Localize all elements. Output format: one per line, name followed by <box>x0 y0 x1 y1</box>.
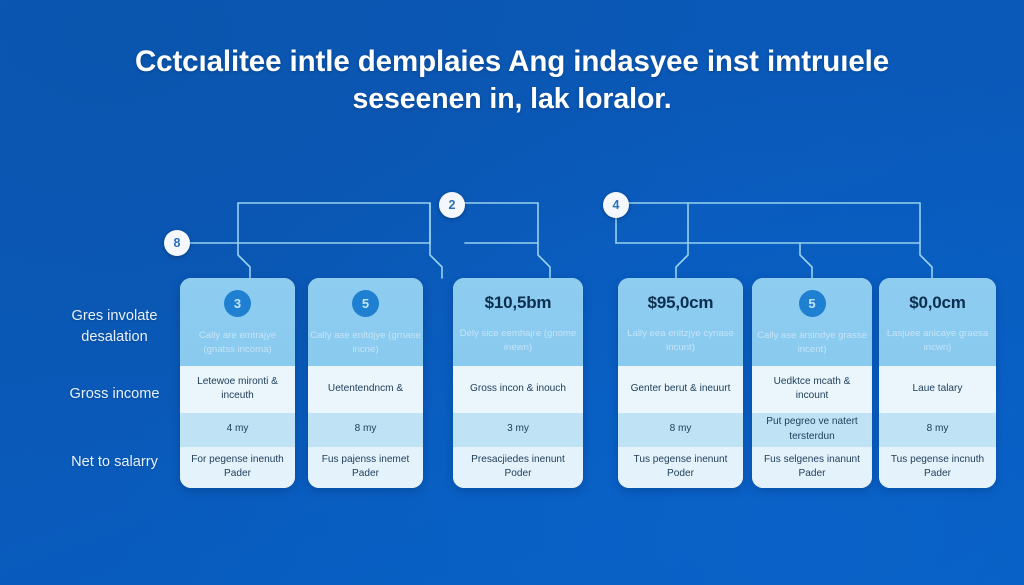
card-band-period: 4 my <box>180 413 295 447</box>
info-card-4[interactable]: $95,0cm Lally eea enltzjye cynase incunt… <box>618 278 743 488</box>
row-label-net-salary: Net to salarry <box>52 452 177 473</box>
card-header-subtitle: Cally are emtrajye (gnatss incoma) <box>182 329 292 356</box>
card-badge: 5 <box>352 290 379 317</box>
title-line-1: Cctcıalitee intle demplaies Ang indasyee… <box>62 42 962 81</box>
infographic-canvas: Cctcıalitee intle demplaies Ang indasyee… <box>0 0 1024 585</box>
card-band-net: Fus selgenes inanunt Pader <box>752 447 872 489</box>
card-amount: $95,0cm <box>648 293 714 313</box>
card-band-net: Tus pegense inenunt Poder <box>618 447 743 489</box>
card-band-period: 8 my <box>618 413 743 447</box>
info-card-3[interactable]: $10,5bm Dely sice eemhajre (gnome inewn)… <box>453 278 583 488</box>
card-header: 3 Cally are emtrajye (gnatss incoma) <box>180 278 295 366</box>
connector-drop-card-2 <box>430 203 442 278</box>
info-card-6[interactable]: $0,0cm Lasjuee anicaye graesa incwn) Lau… <box>879 278 996 488</box>
info-card-1[interactable]: 3 Cally are emtrajye (gnatss incoma) Let… <box>180 278 295 488</box>
card-band-period: Put pegreo ve natert tersterdun <box>752 413 872 447</box>
card-band-gross: Letewoe mironti & inceuth <box>180 366 295 413</box>
card-amount: $0,0cm <box>909 293 965 313</box>
connector-node-4[interactable]: 4 <box>603 192 629 218</box>
row-label-gross-involate: Gres involate desalation <box>52 306 177 347</box>
card-band-net: Fus pajenss inemet Pader <box>308 447 423 489</box>
info-card-5[interactable]: 5 Cally ase arsindye grasse incent) Uedk… <box>752 278 872 488</box>
card-band-gross: Laue talary <box>879 366 996 413</box>
row-label-gross-income: Gross income <box>52 384 177 405</box>
card-header-subtitle: Cally ase arsindye grasse incent) <box>754 329 869 356</box>
card-header: $95,0cm Lally eea enltzjye cynase incunt… <box>618 278 743 366</box>
connector-drop-card-6 <box>920 243 932 278</box>
page-title: Cctcıalitee intle demplaies Ang indasyee… <box>62 42 962 119</box>
card-header: 5 Cally ase enltdjye (grnase incne) <box>308 278 423 366</box>
connector-drop-card-4 <box>676 243 688 278</box>
card-band-net: For pegense inenuth Pader <box>180 447 295 489</box>
card-header: $10,5bm Dely sice eemhajre (gnome inewn) <box>453 278 583 366</box>
card-header: 5 Cally ase arsindye grasse incent) <box>752 278 872 366</box>
card-amount: $10,5bm <box>485 293 552 313</box>
connector-drop-card-5 <box>800 243 812 278</box>
info-card-2[interactable]: 5 Cally ase enltdjye (grnase incne) Uete… <box>308 278 423 488</box>
card-badge: 5 <box>799 290 826 317</box>
card-band-gross: Genter berut & ineuurt <box>618 366 743 413</box>
connector-node-8[interactable]: 8 <box>164 230 190 256</box>
card-band-net: Presacjiedes inenunt Poder <box>453 447 583 489</box>
card-band-gross: Uetentendncm & <box>308 366 423 413</box>
connector-drop-card-3 <box>538 243 550 278</box>
card-band-net: Tus pegense incnuth Pader <box>879 447 996 489</box>
connector-drop-card-1 <box>238 243 250 278</box>
card-header-subtitle: Lally eea enltzjye cynase incunt) <box>621 327 741 354</box>
connector-node-2[interactable]: 2 <box>439 192 465 218</box>
card-header-subtitle: Dely sice eemhajre (gnome inewn) <box>456 327 581 354</box>
card-band-gross: Uedktce mcath & incount <box>752 366 872 413</box>
card-header-subtitle: Lasjuee anicaye graesa incwn) <box>881 327 993 354</box>
card-band-gross: Gross incon & inouch <box>453 366 583 413</box>
title-line-2: seseenen in, lak loralor. <box>62 81 962 119</box>
card-band-period: 8 my <box>879 413 996 447</box>
card-band-period: 3 my <box>453 413 583 447</box>
card-band-period: 8 my <box>308 413 423 447</box>
card-header-subtitle: Cally ase enltdjye (grnase incne) <box>310 329 420 356</box>
card-badge: 3 <box>224 290 251 317</box>
card-header: $0,0cm Lasjuee anicaye graesa incwn) <box>879 278 996 366</box>
